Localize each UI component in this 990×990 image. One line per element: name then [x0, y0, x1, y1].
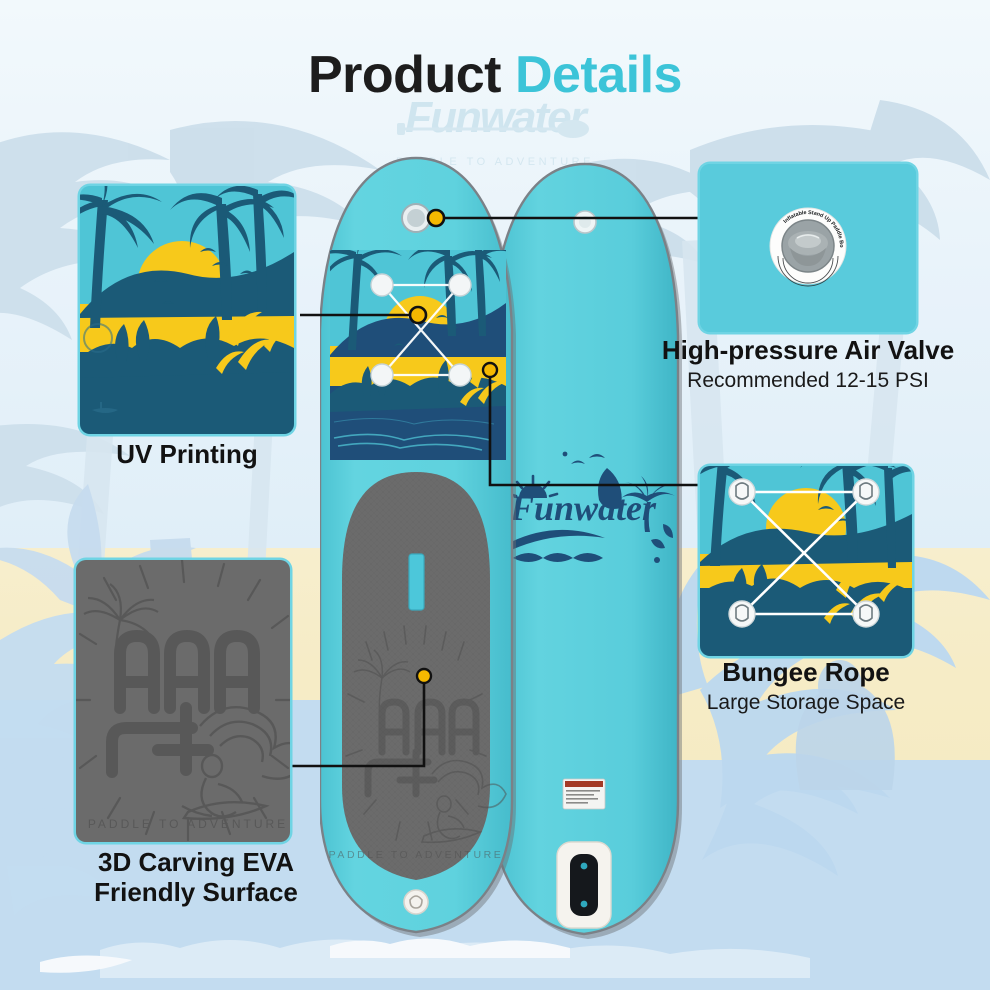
label-air-valve-sub: Recommended 12-15 PSI [640, 369, 976, 393]
deck-carving-text: PADDLE TO ADVENTURE [329, 849, 504, 861]
label-uv-printing: UV Printing [60, 440, 314, 470]
panel-eva-carving[interactable]: PADDLE TO ADVENTURE [76, 560, 290, 842]
page-title: ProductDetails [0, 45, 990, 105]
air-valve-artwork: Inflatable Stand Up Paddle Board [700, 164, 916, 332]
product-details-infographic: Funwater PADDLE TO ADVENTURE ProductDeta… [0, 0, 990, 990]
eva-carving-text: PADDLE TO ADVENTURE [88, 817, 288, 831]
board-nose-artwork [320, 224, 516, 462]
eva-carving-artwork: PADDLE TO ADVENTURE [76, 560, 290, 842]
title-part2: Details [515, 46, 682, 104]
d-ring[interactable] [371, 364, 393, 386]
title-part1: Product [308, 46, 501, 104]
uv-printing-artwork [80, 186, 294, 434]
carry-handle[interactable] [409, 554, 424, 610]
board-front-view: PADDLE TO ADVENTURE [320, 158, 516, 937]
d-ring[interactable] [371, 274, 393, 296]
label-eva-carving: 3D Carving EVA Friendly Surface [50, 848, 342, 908]
fin-box [557, 842, 611, 928]
label-bungee-rope: Bungee Rope Large Storage Space [660, 658, 952, 715]
bungee-rope-artwork [700, 466, 912, 656]
air-valve-on-board[interactable] [402, 204, 430, 232]
label-bungee-rope-sub: Large Storage Space [660, 691, 952, 715]
label-eva-carving-main: 3D Carving EVA [50, 848, 342, 878]
panel-uv-printing[interactable] [80, 186, 294, 434]
panel-air-valve[interactable]: Inflatable Stand Up Paddle Board [700, 164, 916, 332]
warning-label [563, 779, 605, 809]
deck-pad: PADDLE TO ADVENTURE [329, 472, 506, 880]
label-air-valve: High-pressure Air Valve Recommended 12-1… [640, 336, 976, 393]
board-back-view: Funwater [492, 164, 682, 939]
d-ring[interactable] [449, 274, 471, 296]
d-ring[interactable] [449, 364, 471, 386]
label-eva-carving-sub: Friendly Surface [50, 878, 342, 908]
label-bungee-rope-main: Bungee Rope [660, 658, 952, 688]
paddle-boards-group: Funwater [320, 150, 700, 950]
panel-bungee-rope[interactable] [700, 466, 912, 656]
label-uv-printing-main: UV Printing [60, 440, 314, 470]
paddle-icon [395, 118, 595, 140]
tail-d-ring[interactable] [404, 890, 428, 914]
label-air-valve-main: High-pressure Air Valve [640, 336, 976, 366]
